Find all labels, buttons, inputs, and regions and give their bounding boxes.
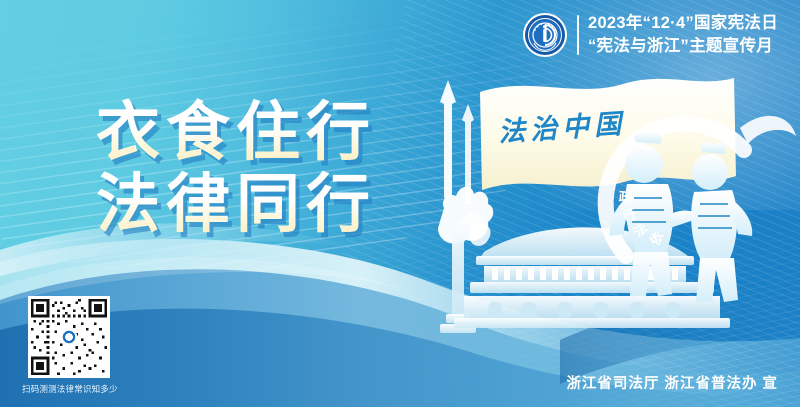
title-line-1: 衣食住行 [96, 96, 376, 168]
flagpole-icon [440, 80, 474, 204]
title-line-2: 法律同行 [96, 168, 376, 240]
law-quiz-qr-code[interactable] [28, 296, 110, 378]
arc-char-2: 行 [620, 203, 638, 225]
ministry-of-justice-emblem-icon [522, 12, 568, 58]
arc-slogan-text: 依 法 行 政 [614, 136, 734, 256]
qr-code-caption: 扫码测测法律常识知多少 [22, 383, 116, 395]
poster-canvas: 2023年“12·4”国家宪法日 “宪法与浙江”主题宣传月 衣食住行 法律同行 [0, 0, 800, 407]
central-illustration: 法治中国 依 法 行 政 [418, 58, 800, 358]
header-divider [577, 15, 579, 55]
main-title: 衣食住行 法律同行 [96, 96, 376, 241]
header-badge: 2023年“12·4”国家宪法日 “宪法与浙江”主题宣传月 [522, 12, 778, 59]
header-line-2: “宪法与浙江”主题宣传月 [588, 35, 778, 58]
qr-code-image [31, 299, 107, 375]
header-campaign-text: 2023年“12·4”国家宪法日 “宪法与浙江”主题宣传月 [588, 12, 778, 59]
qr-code-block[interactable]: 扫码测测法律常识知多少 [22, 296, 116, 395]
arc-char-3: 政 [618, 186, 632, 206]
footer-credits: 浙江省司法厅 浙江省普法办 宣 [566, 372, 778, 393]
header-line-1: 2023年“12·4”国家宪法日 [588, 12, 778, 35]
